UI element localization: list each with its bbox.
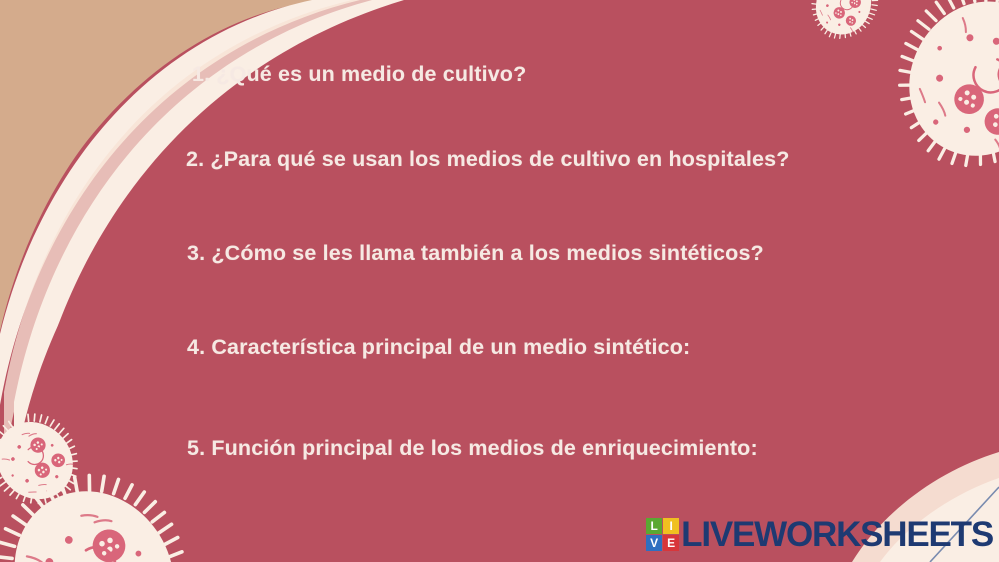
question-item-2: 2. ¿Para qué se usan los medios de culti… — [186, 147, 790, 173]
question-item-3: 3. ¿Cómo se les llama también a los medi… — [187, 241, 764, 267]
liveworksheets-logo[interactable]: L I V E LIVEWORKSHEETS — [646, 514, 993, 554]
question-item-5: 5. Función principal de los medios de en… — [187, 436, 758, 462]
question-list: 1. ¿Qué es un medio de cultivo? 2. ¿Para… — [0, 0, 999, 562]
question-item-4: 4. Característica principal de un medio … — [187, 335, 690, 361]
logo-tile-e: E — [663, 535, 679, 551]
logo-tile-l: L — [646, 518, 662, 534]
logo-wordmark: LIVEWORKSHEETS — [681, 517, 993, 552]
worksheet-canvas: 1. ¿Qué es un medio de cultivo? 2. ¿Para… — [0, 0, 999, 562]
question-item-1: 1. ¿Qué es un medio de cultivo? — [192, 62, 526, 88]
logo-tile-i: I — [663, 518, 679, 534]
logo-tiles: L I V E — [646, 518, 679, 551]
logo-tile-v: V — [646, 535, 662, 551]
